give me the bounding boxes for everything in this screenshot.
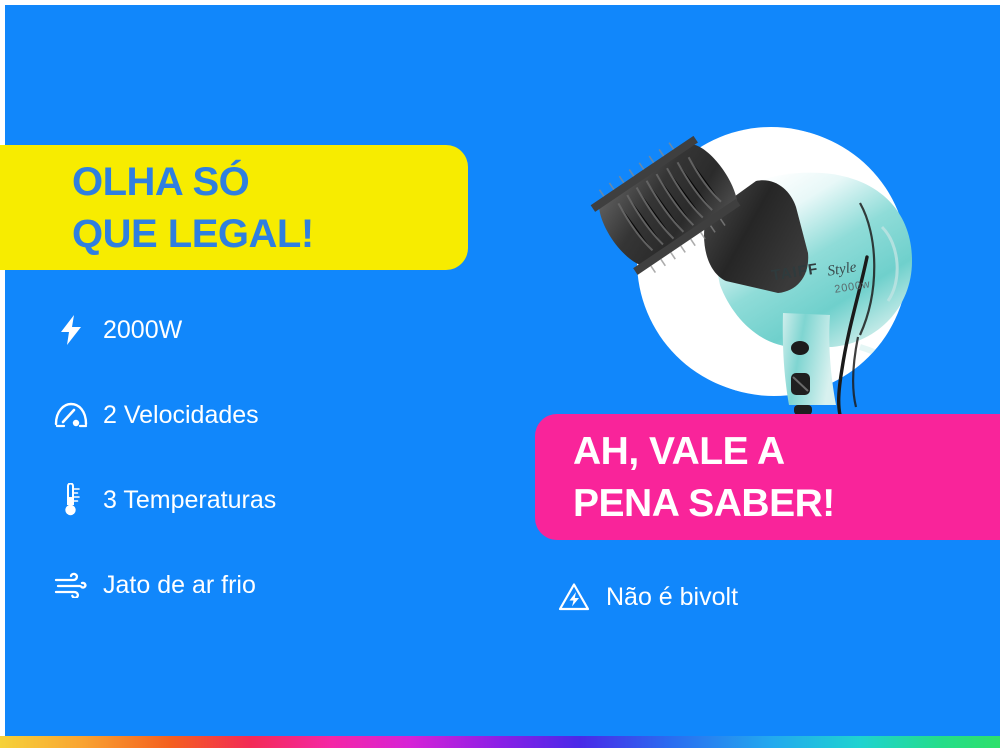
promo-banner: TAIFF Style 2000w OLHA SÓ QUE LEGAL! 200… [0,0,1000,750]
yellow-plate-headline: OLHA SÓ QUE LEGAL! [72,156,314,260]
feature-row-voltage: Não é bivolt [553,572,738,622]
feature-label-power: 2000W [103,316,182,345]
feature-row-power: 2000W [50,305,276,355]
feature-row-speeds: 2 Velocidades [50,390,276,440]
left-feature-list: 2000W 2 Velocidades [50,305,276,610]
feature-label-voltage: Não é bivolt [606,583,738,612]
right-feature-list: Não é bivolt [553,572,738,622]
electrical-hazard-icon [553,580,595,614]
feature-label-cold-air: Jato de ar frio [103,571,256,600]
pink-headline-plate: AH, VALE A PENA SABER! [535,414,1000,540]
product-photo-circle-backdrop [637,127,905,395]
lightning-bolt-icon [50,313,92,347]
feature-label-speeds: 2 Velocidades [103,401,259,430]
feature-label-temperatures: 3 Temperaturas [103,486,276,515]
speedometer-icon [50,398,92,432]
yellow-headline-plate: OLHA SÓ QUE LEGAL! [0,145,468,270]
wind-icon [50,568,92,602]
thermometer-icon [50,483,92,517]
pink-plate-headline: AH, VALE A PENA SABER! [573,426,835,530]
rainbow-accent-strip [0,736,1000,748]
feature-row-temperatures: 3 Temperaturas [50,475,276,525]
feature-row-cold-air: Jato de ar frio [50,560,276,610]
